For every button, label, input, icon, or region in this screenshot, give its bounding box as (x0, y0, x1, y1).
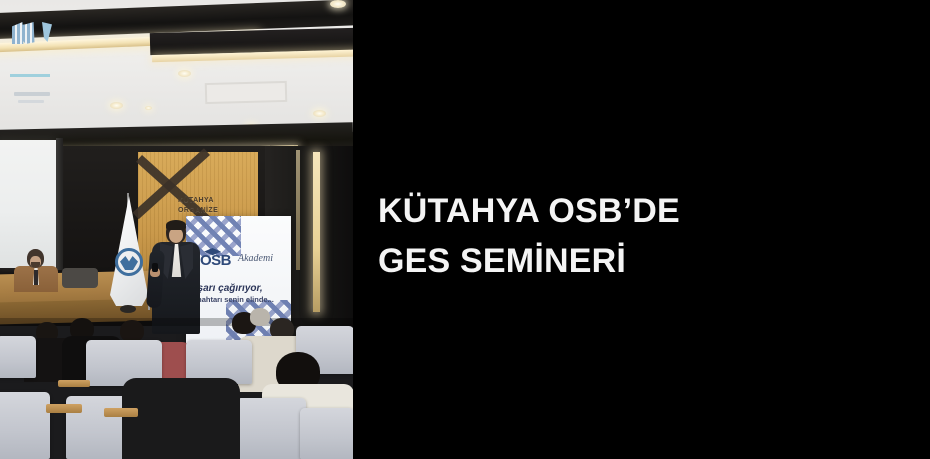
auditorium-chair (300, 408, 353, 459)
chair-armrest (58, 380, 90, 387)
chair-armrest (46, 404, 82, 413)
slide-text-line (18, 100, 44, 103)
article-photo: KÜTAHYA ORGANİZE (0, 0, 353, 459)
wall-text-line2: ORGANİZE (178, 207, 218, 214)
downlight-icon (110, 102, 123, 109)
banner-slogan-line1: aşarı çağırıyor, (192, 283, 263, 294)
audience-head (250, 308, 270, 326)
led-strip-vertical-secondary (296, 150, 300, 270)
audience-coat (122, 378, 240, 459)
audience-head (120, 320, 144, 342)
wall-text: KÜTAHYA ORGANİZE (178, 196, 258, 216)
led-strip-vertical (313, 152, 320, 312)
page-title: KÜTAHYA OSB’DE GES SEMİNERİ (378, 186, 898, 286)
seated-person-beard (31, 262, 40, 268)
news-thumbnail-card: KÜTAHYA ORGANİZE (0, 0, 930, 459)
microphone-icon (152, 263, 158, 272)
screen-frame (56, 138, 63, 270)
banner-slogan-line2: anahtarı senin elinde... (193, 295, 274, 304)
auditorium-chair (0, 336, 36, 378)
speaker-hair (166, 220, 186, 230)
banner-sub-brand: Akademi (238, 253, 273, 264)
banner-brand: OSB (200, 252, 231, 269)
projection-screen (0, 140, 56, 268)
headline-line-1: KÜTAHYA OSB’DE (378, 186, 898, 236)
downlight-icon (178, 70, 191, 77)
seated-person-tie (34, 270, 38, 285)
panel-chair (62, 268, 98, 288)
headline-line-2: GES SEMİNERİ (378, 236, 898, 286)
wall-text-line1: KÜTAHYA (178, 197, 214, 204)
slide-divider (10, 74, 50, 77)
downlight-icon (313, 110, 326, 117)
slide-text-line (14, 92, 50, 96)
headline-panel: KÜTAHYA OSB’DE GES SEMİNERİ (353, 0, 930, 459)
auditorium-chair (0, 392, 50, 459)
ceiling-vent (205, 81, 288, 104)
auditorium-chair (236, 398, 306, 459)
flag-base (120, 305, 136, 313)
downlight-icon (145, 106, 152, 110)
chair-armrest (104, 408, 138, 417)
downlight-icon (330, 0, 346, 8)
speaker-face (169, 228, 183, 243)
